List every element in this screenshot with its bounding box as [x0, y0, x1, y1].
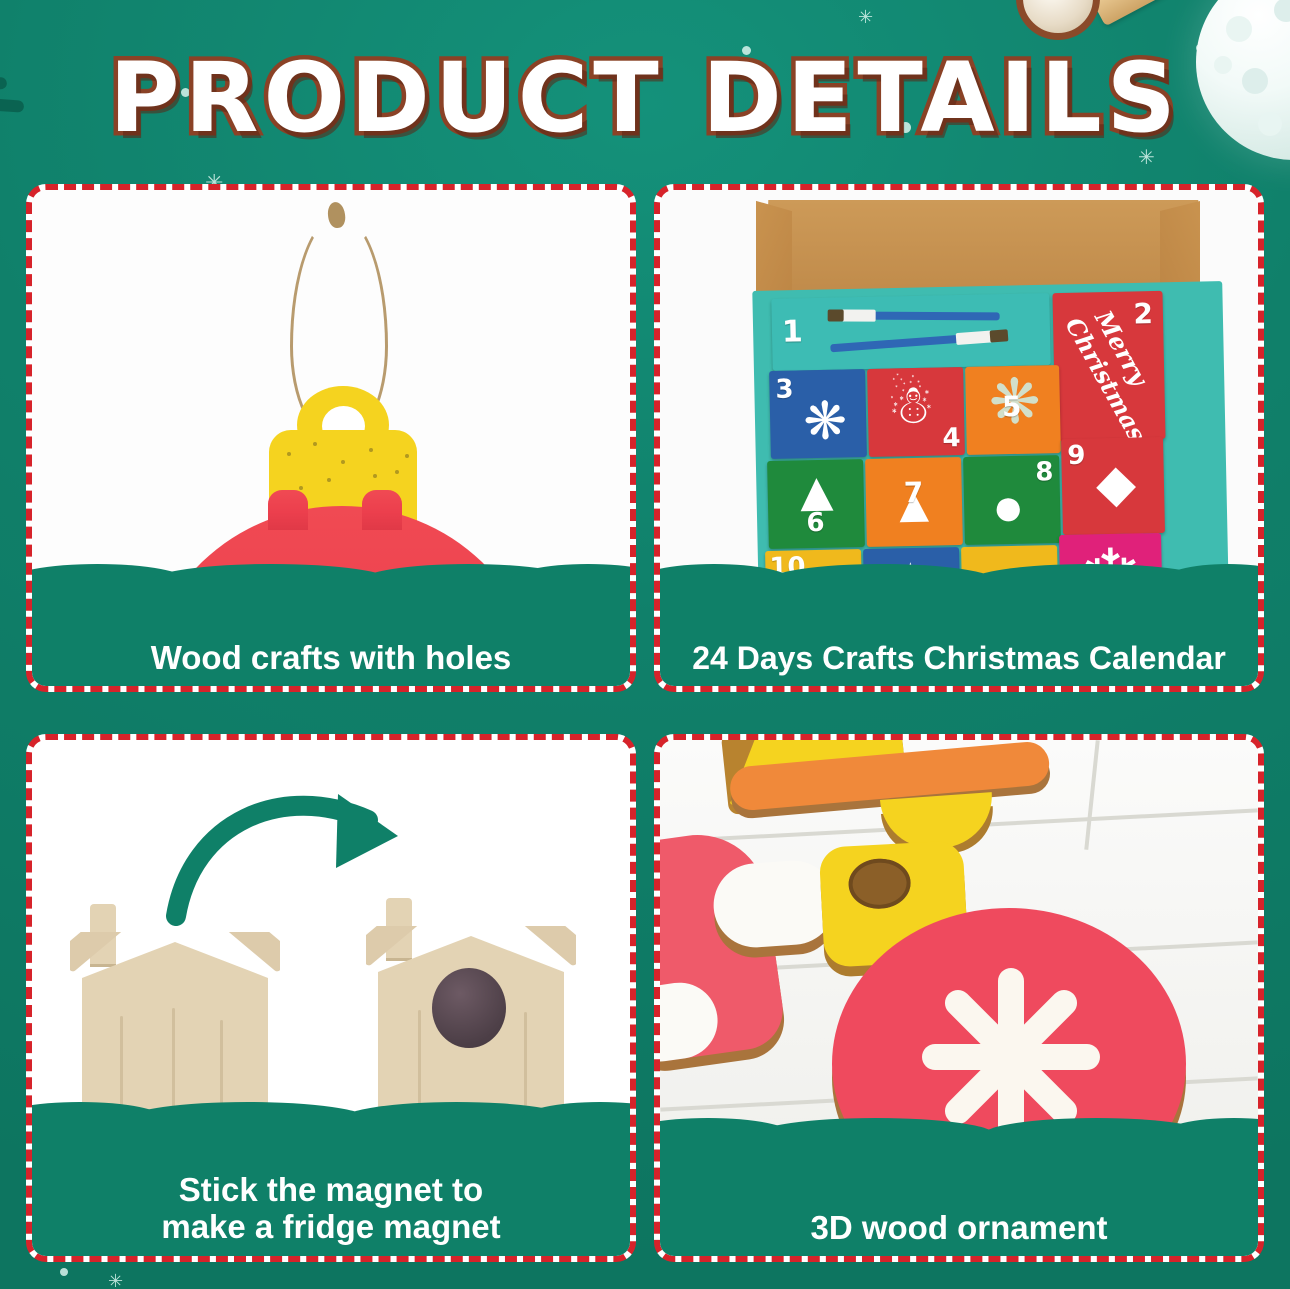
tile-number: 6	[806, 508, 825, 538]
ornament-icon: ❋	[790, 395, 861, 448]
calendar-tile-5[interactable]: 5 ❋	[965, 365, 1061, 455]
tile-number: 7	[903, 476, 923, 509]
caption-line: Wood crafts with holes	[151, 640, 512, 676]
card-3d-wood-ornament[interactable]: 3D wood ornament	[654, 734, 1264, 1262]
tile-number: 8	[1035, 457, 1054, 487]
calendar-tile-7[interactable]: 7 ▲	[865, 457, 963, 547]
paint-speck	[287, 452, 291, 456]
calendar-tile-6[interactable]: 6 ▲	[767, 459, 865, 549]
caption-card-2: 24 Days Crafts Christmas Calendar	[660, 590, 1258, 686]
paint-speck	[341, 460, 345, 464]
paint-speck	[327, 478, 331, 482]
wood-house-plain	[60, 896, 290, 1126]
calendar-tile-4[interactable]: 4 ☃	[867, 367, 965, 457]
caption-scallop	[660, 564, 1258, 598]
card-fridge-magnet[interactable]: Stick the magnet to make a fridge magnet	[26, 734, 636, 1262]
card-wood-crafts-with-holes[interactable]: Wood crafts with holes	[26, 184, 636, 692]
gingerbread-man-icon: ☃	[879, 377, 942, 432]
caption-line: 3D wood ornament	[810, 1210, 1107, 1246]
tile-number: 2	[1133, 297, 1153, 330]
calendar-tile-9[interactable]: 9 ◆	[1061, 437, 1165, 535]
wood-house-with-magnet	[356, 890, 586, 1126]
paint-brush-icon	[830, 331, 1006, 352]
tile-number: 9	[1067, 441, 1086, 471]
card-advent-calendar[interactable]: 1 2 Merry Christmas 3 ❋ 4	[654, 184, 1264, 692]
paint-speck	[313, 442, 317, 446]
tile-number: 1	[782, 314, 804, 349]
caption-line: Stick the magnet to	[179, 1172, 483, 1209]
caption-scallop	[32, 564, 630, 598]
paint-speck	[405, 454, 409, 458]
calendar-tile-8[interactable]: 8 ●	[963, 455, 1061, 545]
paint-brush-icon	[832, 311, 1000, 320]
caption-scallop	[32, 1102, 630, 1136]
stocking-icon: ◆	[1085, 457, 1146, 510]
magnet-disc	[432, 968, 506, 1048]
caption-line: make a fridge magnet	[161, 1209, 500, 1246]
snow-dot	[60, 1268, 68, 1276]
tile-number: 5	[1002, 390, 1022, 423]
striped-ball-icon: ●	[978, 479, 1039, 534]
paint-speck	[373, 474, 377, 478]
bauble-dot	[1226, 16, 1252, 42]
page-title: PRODUCT DETAILS	[0, 42, 1290, 154]
ornament-nub-left	[268, 490, 308, 530]
ornament-nub-right	[362, 490, 402, 530]
snowflake-icon: ✳	[858, 8, 873, 26]
bauble-dot	[1274, 0, 1290, 22]
paint-speck	[395, 470, 399, 474]
infographic-canvas: ✳✳✳✳✳ PRODUCT DETAILS	[0, 0, 1290, 1289]
caption-line: 24 Days Crafts Christmas Calendar	[692, 641, 1226, 676]
caption-card-4: 3D wood ornament	[660, 1144, 1258, 1256]
paint-speck	[369, 448, 373, 452]
caption-scallop	[660, 1118, 1258, 1152]
calendar-tile-2[interactable]: 2 Merry Christmas	[1052, 291, 1165, 441]
calendar-tile-1[interactable]: 1	[771, 293, 1050, 371]
calendar-tile-3[interactable]: 3 ❋	[769, 369, 867, 459]
snowflake-icon: ✳	[108, 1272, 123, 1289]
caption-card-1: Wood crafts with holes	[32, 590, 630, 686]
caption-card-3: Stick the magnet to make a fridge magnet	[32, 1128, 630, 1256]
tile-number: 4	[942, 423, 961, 453]
